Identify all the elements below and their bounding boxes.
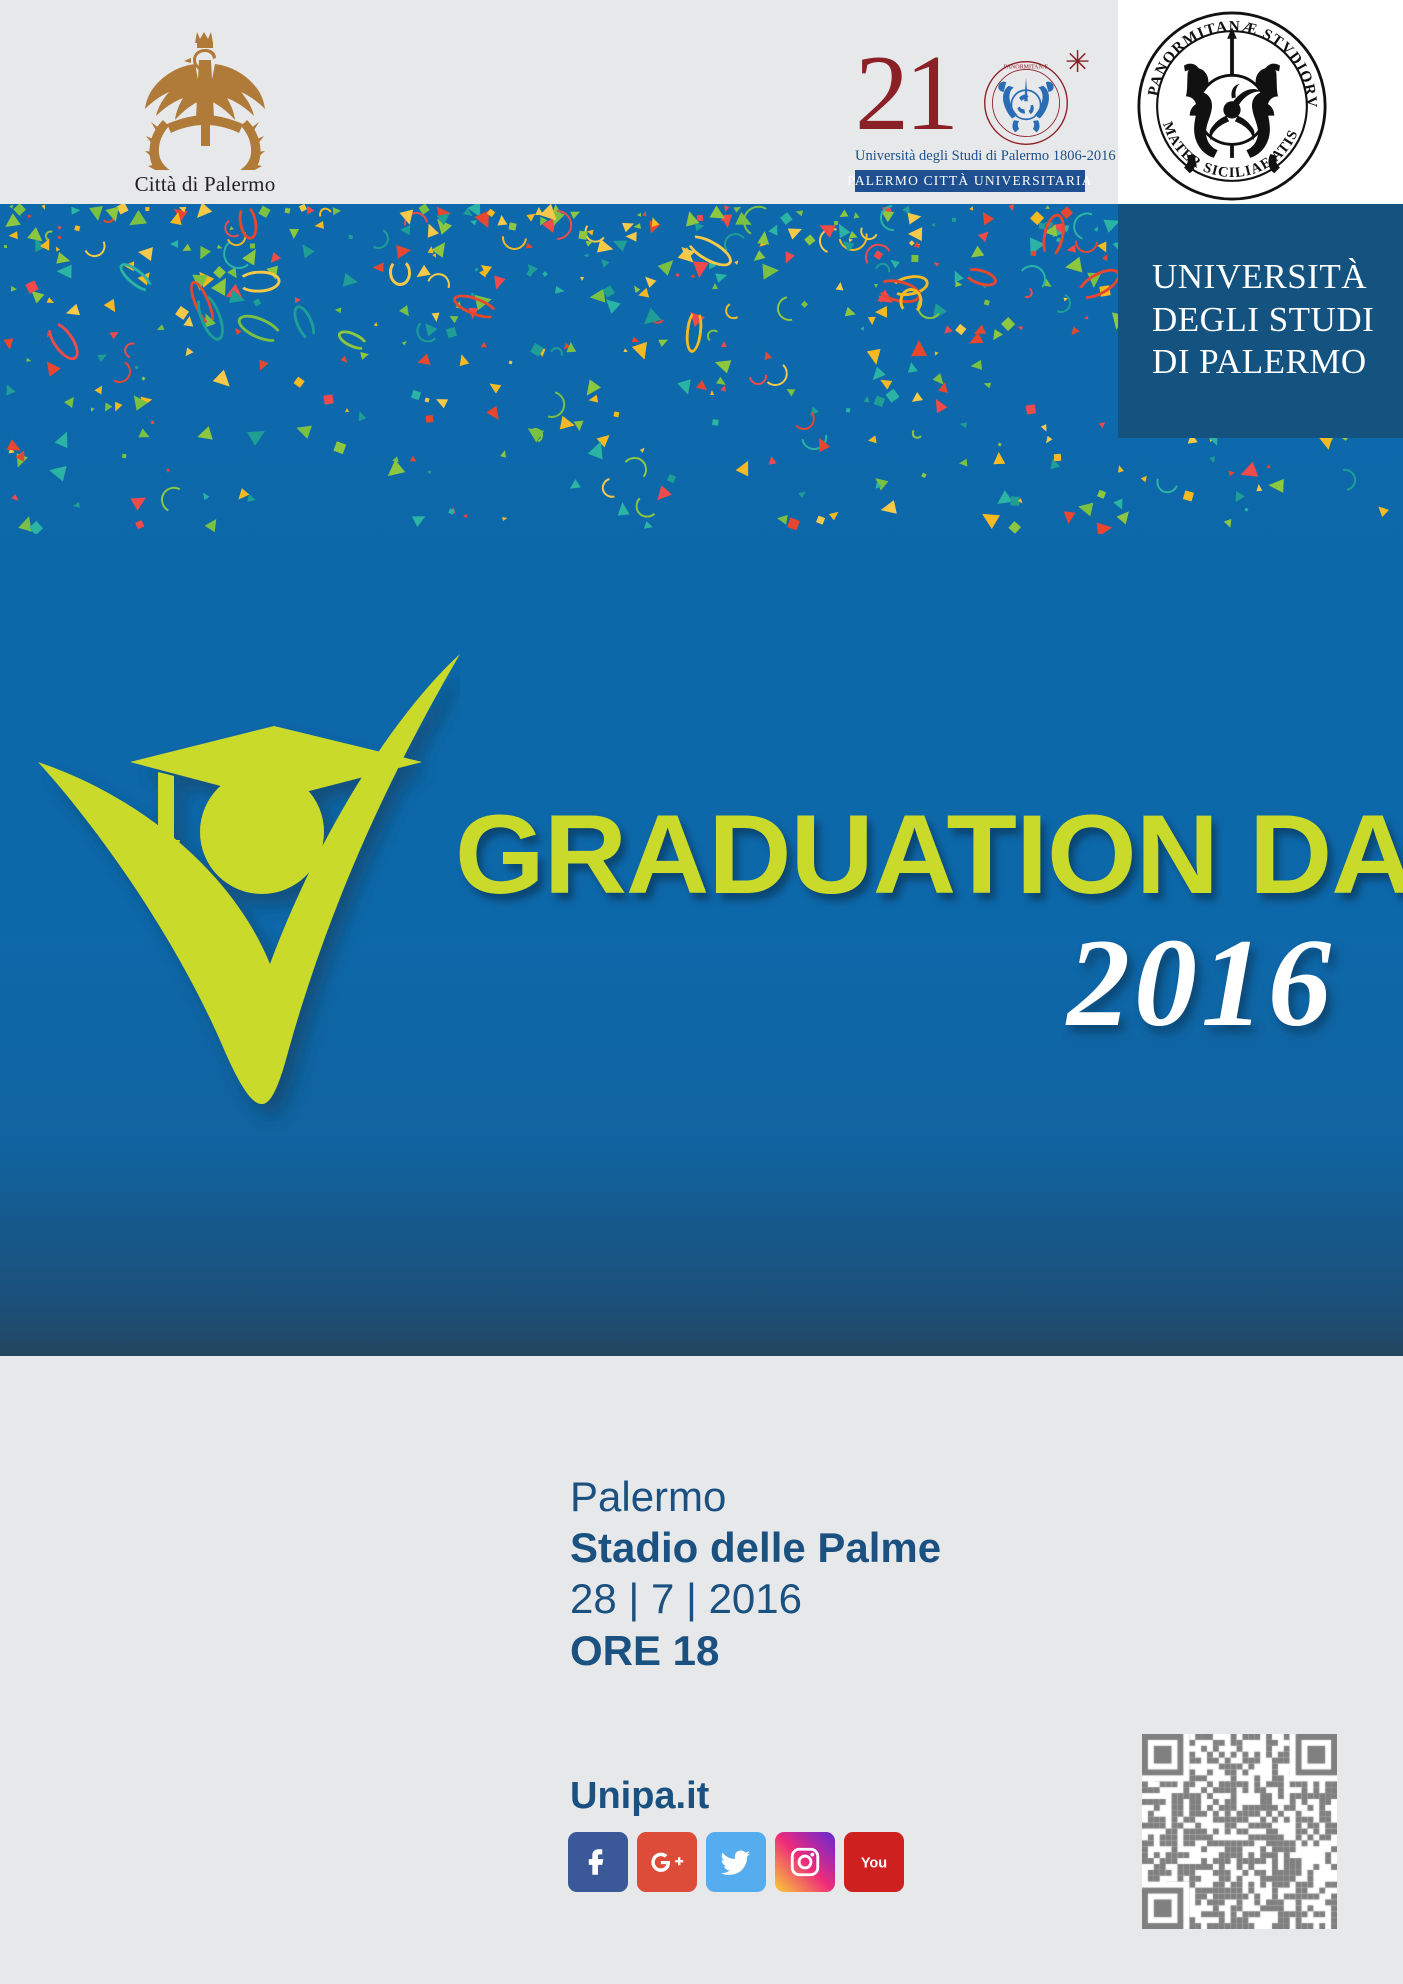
instagram-icon[interactable] [775, 1832, 835, 1892]
event-city: Palermo [570, 1471, 941, 1522]
header-bar: Città di Palermo 21 ✳ [0, 0, 1403, 204]
anniversary-number: 21 [855, 40, 955, 148]
facebook-icon[interactable] [568, 1832, 628, 1892]
event-details: Palermo Stadio delle Palme 28 | 7 | 2016… [570, 1471, 941, 1676]
university-line-3: DI PALERMO [1152, 341, 1374, 384]
svg-text:You: You [861, 1856, 887, 1872]
university-line-1: UNIVERSITÀ [1152, 256, 1374, 299]
page-title: GRADUATION DAY [455, 799, 1382, 911]
anniversary-subtitle: Università degli Studi di Palermo 1806-2… [855, 148, 1085, 165]
comune-logo: Città di Palermo [95, 28, 315, 200]
unipa-seal-black-icon: PANORMITANÆ STVDIORVM VNIVERSIT MATER SI… [1136, 10, 1328, 202]
social-links: You [568, 1832, 904, 1892]
university-line-2: DEGLI STUDI [1152, 299, 1374, 342]
unipa-seal-blue-icon: PANORMITANÆ [983, 60, 1069, 146]
page-year: 2016 [455, 921, 1335, 1047]
twitter-icon[interactable] [706, 1832, 766, 1892]
anniversary-logo: 21 ✳ [855, 48, 1085, 198]
event-time: ORE 18 [570, 1625, 941, 1676]
google-plus-icon[interactable] [637, 1832, 697, 1892]
event-venue: Stadio delle Palme [570, 1522, 941, 1573]
website-link[interactable]: Unipa.it [570, 1775, 709, 1818]
university-name-text: UNIVERSITÀ DEGLI STUDI DI PALERMO [1152, 256, 1374, 384]
event-date: 28 | 7 | 2016 [570, 1573, 941, 1624]
university-name-box: UNIVERSITÀ DEGLI STUDI DI PALERMO [1118, 204, 1403, 438]
main-title-block: GRADUATION DAY 2016 [455, 799, 1355, 1129]
anniversary-band: PALERMO CITTÀ UNIVERSITARIA [855, 170, 1085, 192]
svg-text:PANORMITANÆ: PANORMITANÆ [1004, 65, 1049, 71]
qr-code-icon [1142, 1734, 1337, 1929]
comune-logo-label: Città di Palermo [135, 172, 276, 197]
graduation-check-cap-icon [30, 634, 460, 1154]
palermo-eagle-crest-icon [127, 28, 283, 170]
poster-root: Città di Palermo 21 ✳ [0, 0, 1403, 1984]
youtube-icon[interactable]: You [844, 1832, 904, 1892]
